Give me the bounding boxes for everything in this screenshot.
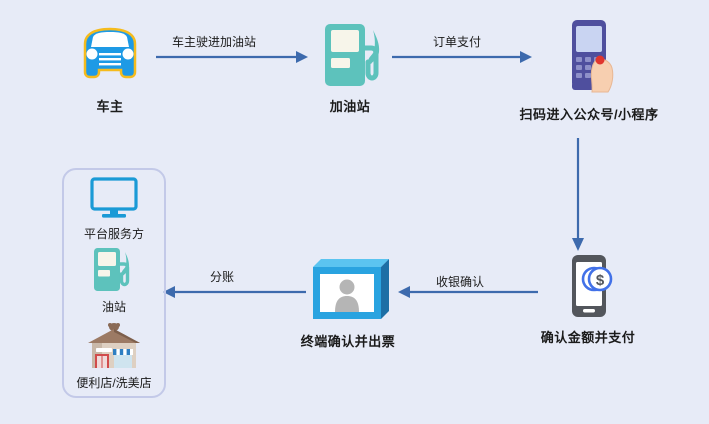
panel-item-platform-provider-label: 平台服务方 [84, 225, 144, 242]
node-terminal-print-label: 终端确认并出票 [301, 331, 396, 350]
node-gas-station-label: 加油站 [330, 96, 371, 115]
edge-settlement-label: 分账 [210, 268, 234, 285]
mobile-payment-icon: $ [556, 253, 620, 321]
panel-item-oil-station-label: 油站 [102, 298, 126, 315]
node-scan-qr-label: 扫码进入公众号/小程序 [519, 104, 658, 123]
fuel-pump-small-icon [88, 245, 140, 295]
monitor-icon [88, 176, 140, 222]
node-gas-station[interactable]: 加油站 [310, 18, 390, 115]
car-icon [71, 20, 149, 90]
arrow-settlement [163, 285, 306, 299]
fuel-pump-icon [315, 18, 385, 90]
node-confirm-pay[interactable]: $ 确认金额并支付 [538, 253, 638, 346]
terminal-monitor-icon [305, 255, 391, 325]
node-terminal-print[interactable]: 终端确认并出票 [303, 255, 393, 350]
panel-item-platform-provider[interactable]: 平台服务方 [62, 176, 166, 242]
store-house-icon [84, 321, 144, 371]
arrow-drive-in [156, 50, 308, 64]
svg-text:$: $ [596, 272, 605, 289]
flow-diagram-canvas: 车主 车主驶进加油站 加油站 订单支付 [0, 0, 709, 424]
node-scan-qr[interactable]: 扫码进入公众号/小程序 [519, 16, 659, 123]
edge-order-pay-label: 订单支付 [433, 33, 481, 50]
edge-drive-in-label: 车主驶进加油站 [172, 33, 256, 50]
arrow-order-pay [392, 50, 532, 64]
handheld-pos-icon [550, 16, 628, 98]
arrow-cashier-confirm [398, 285, 538, 299]
panel-item-convenience-store[interactable]: 便利店/洗美店 [62, 321, 166, 391]
node-car-owner[interactable]: 车主 [70, 20, 150, 115]
node-confirm-pay-label: 确认金额并支付 [541, 327, 636, 346]
panel-item-convenience-store-label: 便利店/洗美店 [76, 374, 151, 391]
panel-item-oil-station[interactable]: 油站 [62, 245, 166, 315]
arrow-to-confirm-pay [570, 138, 586, 252]
node-car-owner-label: 车主 [96, 96, 123, 115]
